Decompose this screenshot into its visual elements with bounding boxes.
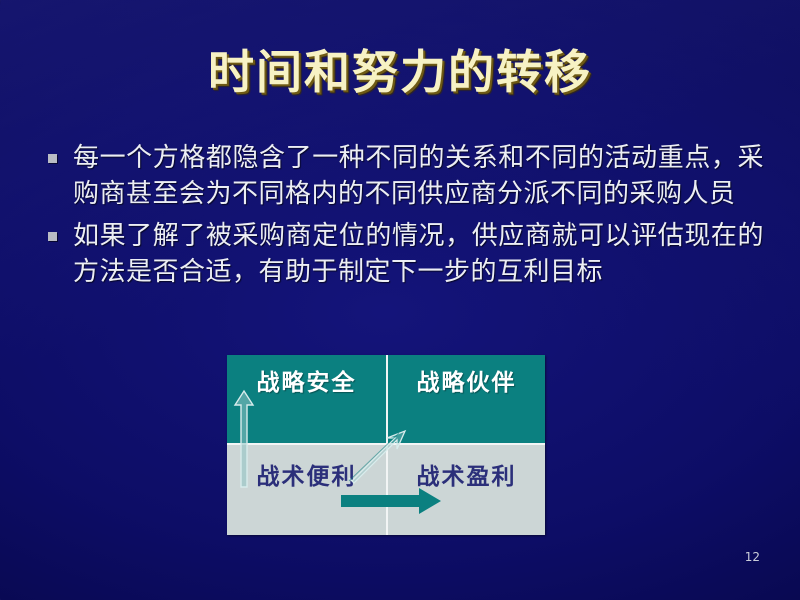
strategy-matrix: 战略安全 战略伙伴 战术便利 战术盈利 — [227, 355, 545, 535]
matrix-cell-label: 战术便利 — [257, 457, 357, 491]
bullet-list: 每一个方格都隐含了一种不同的关系和不同的活动重点，采购商甚至会为不同格内的不同供… — [48, 140, 764, 296]
matrix-row-strategic: 战略安全 战略伙伴 — [227, 355, 545, 443]
list-item: 如果了解了被采购商定位的情况，供应商就可以评估现在的方法是否合适，有助于制定下一… — [48, 218, 764, 290]
matrix-cell-bottom-left: 战术便利 — [227, 445, 386, 535]
matrix-cell-label: 战略伙伴 — [417, 363, 517, 397]
page-number: 12 — [745, 550, 760, 564]
page-title: 时间和努力的转移 — [0, 36, 800, 102]
matrix-cell-top-right: 战略伙伴 — [386, 355, 545, 443]
list-item: 每一个方格都隐含了一种不同的关系和不同的活动重点，采购商甚至会为不同格内的不同供… — [48, 140, 764, 212]
matrix-cell-bottom-right: 战术盈利 — [386, 445, 545, 535]
bullet-text: 每一个方格都隐含了一种不同的关系和不同的活动重点，采购商甚至会为不同格内的不同供… — [73, 140, 764, 212]
matrix-row-tactical: 战术便利 战术盈利 — [227, 443, 545, 535]
matrix-cell-label: 战术盈利 — [417, 457, 517, 491]
matrix-cell-top-left: 战略安全 — [227, 355, 386, 443]
matrix-cell-label: 战略安全 — [257, 363, 357, 397]
bullet-text: 如果了解了被采购商定位的情况，供应商就可以评估现在的方法是否合适，有助于制定下一… — [73, 218, 764, 290]
square-bullet-icon — [48, 232, 57, 241]
slide-canvas: 时间和努力的转移 每一个方格都隐含了一种不同的关系和不同的活动重点，采购商甚至会… — [0, 0, 800, 600]
square-bullet-icon — [48, 154, 57, 163]
